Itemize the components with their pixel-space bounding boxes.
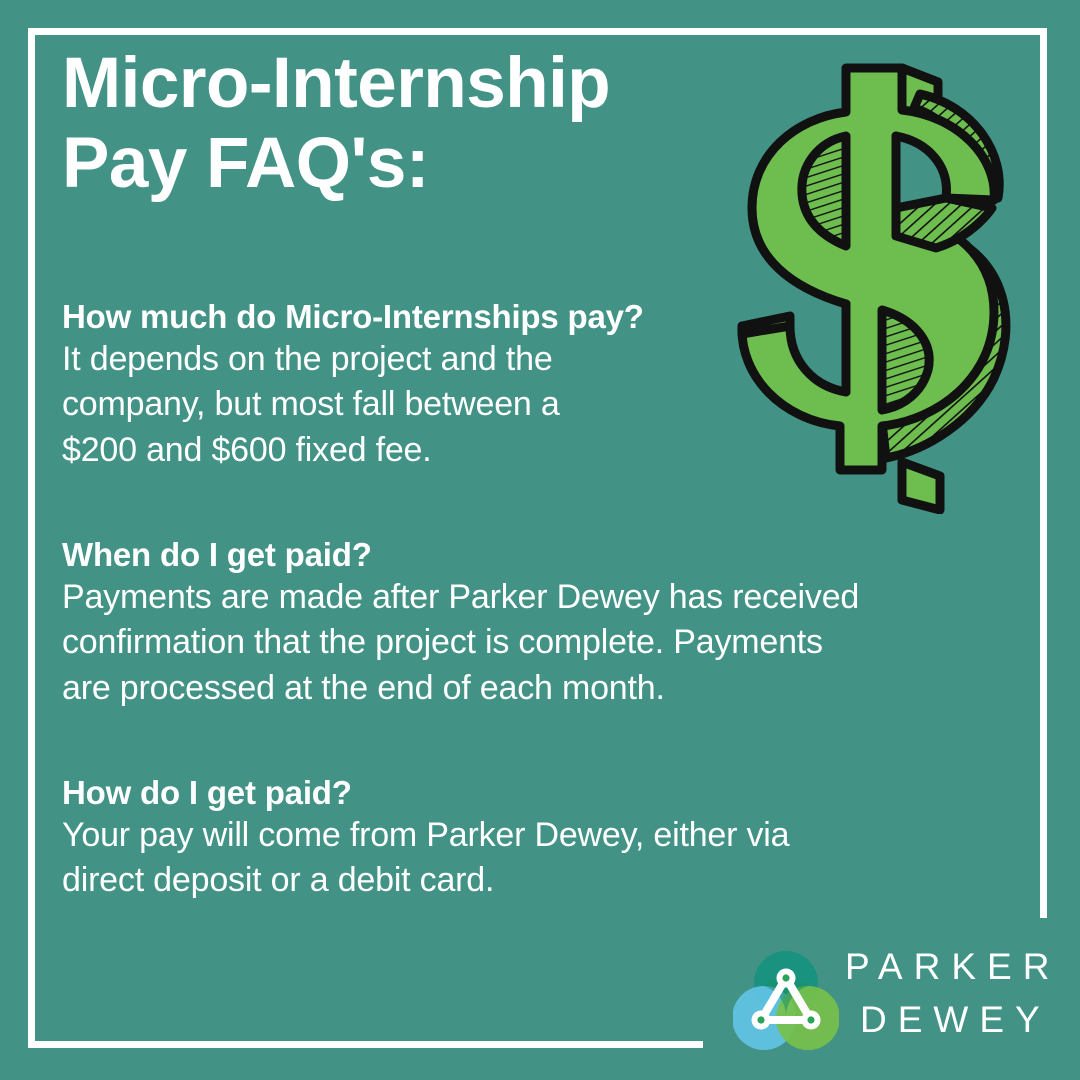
faq-answer: It depends on the project and the compan… xyxy=(62,337,752,473)
frame-border-left xyxy=(28,28,35,1048)
faq-item: When do I get paid? Payments are made af… xyxy=(62,534,1012,711)
frame-border-bottom xyxy=(28,1041,703,1048)
faq-graphic-card: Micro-Internship Pay FAQ's: How much do … xyxy=(0,0,1080,1080)
faq-answer: Payments are made after Parker Dewey has… xyxy=(62,575,1012,711)
page-title: Micro-Internship Pay FAQ's: xyxy=(62,44,722,203)
frame-border-top xyxy=(28,28,1047,35)
logo-wordmark-line-2: DEWEY xyxy=(860,1001,1051,1038)
frame-border-right xyxy=(1040,28,1047,918)
faq-question: How much do Micro-Internships pay? xyxy=(62,296,752,337)
faq-item: How do I get paid? Your pay will come fr… xyxy=(62,772,1012,904)
dollar-sign-icon xyxy=(706,58,1026,514)
faq-question: When do I get paid? xyxy=(62,534,1012,575)
faq-item: How much do Micro-Internships pay? It de… xyxy=(62,296,752,473)
faq-question: How do I get paid? xyxy=(62,772,1012,813)
parker-dewey-logo: PARKER DEWEY xyxy=(733,944,1053,1056)
parker-dewey-wordmark: PARKER DEWEY xyxy=(845,944,1053,1054)
logo-wordmark-line-1: PARKER xyxy=(845,948,1060,985)
parker-dewey-venn-mark-icon xyxy=(733,950,839,1052)
faq-answer: Your pay will come from Parker Dewey, ei… xyxy=(62,813,1012,903)
